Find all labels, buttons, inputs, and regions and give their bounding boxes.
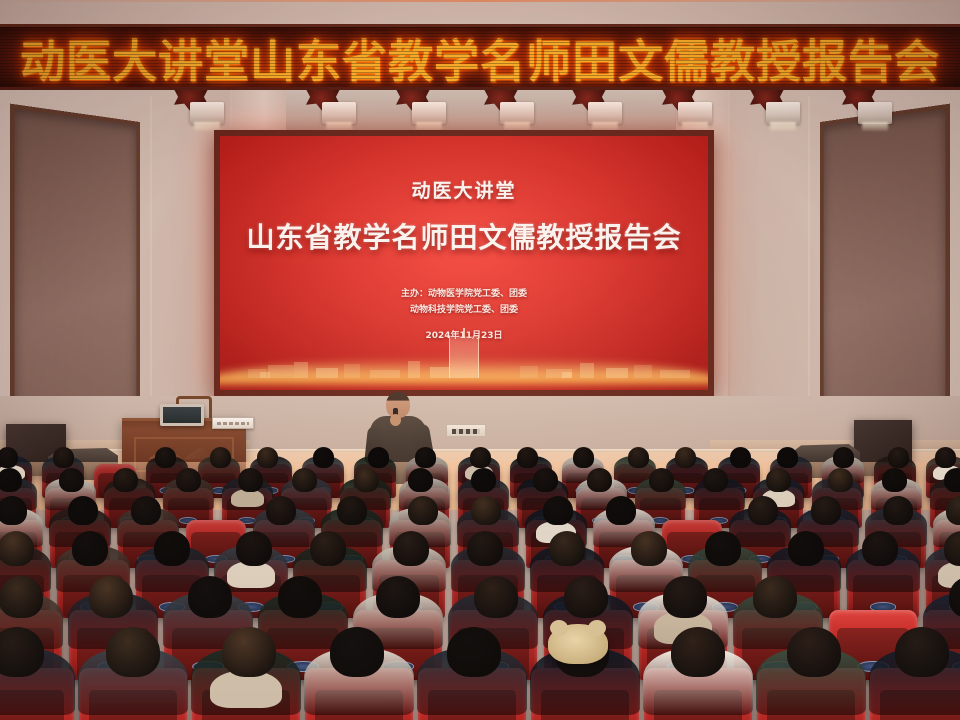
- led-banner-text: 动医大讲堂山东省教学名师田文儒教授报告会: [20, 25, 940, 90]
- audience-member-head: [447, 627, 501, 677]
- audience-member-head: [895, 627, 949, 677]
- spotlight-beam: [770, 122, 796, 131]
- slide-skyline-graphic: [220, 328, 708, 390]
- audience-member-head: [68, 496, 98, 525]
- spotlight-housing: [588, 102, 622, 124]
- led-banner-glow: [0, 0, 960, 2]
- auditorium-photo: 动医大讲堂山东省教学名师田文儒教授报告会 动医大讲堂 山东省教学名师田文儒教授报…: [0, 0, 960, 720]
- skyline-building: [316, 368, 338, 378]
- spotlight-housing: [678, 102, 712, 124]
- audience-member-head: [833, 447, 854, 467]
- skyline-building: [260, 372, 270, 378]
- audience-member-head: [0, 468, 22, 492]
- audience-member-head: [0, 531, 34, 566]
- audience-member-head: [278, 576, 322, 618]
- skyline-building: [660, 370, 690, 378]
- led-marquee-banner: 动医大讲堂山东省教学名师田文儒教授报告会: [0, 24, 960, 90]
- slide-organizer-line-1: 主办：动物医学院党工委、团委: [220, 288, 708, 302]
- audience-member-head: [766, 468, 791, 492]
- skyline-building: [268, 365, 294, 378]
- stage-spotlight-7: [744, 86, 800, 132]
- title-slide: 动医大讲堂 山东省教学名师田文儒教授报告会 主办：动物医学院党工委、团委 动物科…: [220, 136, 708, 390]
- skyline-building: [520, 366, 538, 378]
- audience-member-head: [89, 576, 133, 618]
- audience-member-head: [210, 447, 231, 467]
- skyline-building: [294, 362, 308, 378]
- audience-member-head: [883, 496, 913, 525]
- audience-member-head: [313, 447, 334, 467]
- plush-toy-ear-left: [550, 620, 568, 636]
- audience-member-head: [354, 468, 379, 492]
- audience-seating: [0, 462, 960, 720]
- skyline-building: [430, 367, 450, 378]
- slide-kicker-text: 动医大讲堂: [220, 176, 708, 203]
- nameplate-text-line: [217, 422, 249, 425]
- skyline-building: [580, 363, 594, 378]
- audience-member-head: [467, 531, 503, 566]
- audience-member-head: [266, 496, 296, 525]
- slide-title-text: 山东省教学名师田文儒教授报告会: [220, 216, 708, 256]
- spotlight-housing: [858, 102, 892, 124]
- audience-member-head: [236, 531, 272, 566]
- plush-toy-ear-right: [588, 620, 606, 636]
- audience-member-head: [72, 531, 108, 566]
- skyline-tower: [449, 336, 479, 378]
- audience-member-head: [888, 447, 909, 467]
- audience-member-head: [408, 468, 433, 492]
- slide-organizer-line-2: 动物科技学院党工委、团委: [220, 304, 708, 318]
- audience-member-head: [882, 468, 907, 492]
- stage-spotlight-3: [390, 86, 446, 132]
- audience-member-head: [549, 531, 585, 566]
- audience-member-head: [0, 447, 18, 467]
- audience-member-head: [0, 576, 43, 618]
- audience-member-head: [628, 447, 649, 467]
- skyline-building: [344, 364, 360, 378]
- stage-spotlight-5: [566, 86, 622, 132]
- skyline-building: [634, 365, 652, 378]
- podium-nameplate: [212, 417, 254, 429]
- audience-member-head: [471, 468, 496, 492]
- audience-member-head: [257, 447, 278, 467]
- audience-member-head: [155, 447, 176, 467]
- wall-control-plate: [446, 424, 486, 437]
- spotlight-housing: [412, 102, 446, 124]
- audience-member-head: [517, 447, 538, 467]
- audience-member-head: [703, 468, 728, 492]
- audience-member-head: [106, 627, 160, 677]
- audience-member-head: [154, 531, 190, 566]
- spotlight-housing: [190, 102, 224, 124]
- audience-member-head: [0, 496, 27, 525]
- audience-member-head: [131, 496, 161, 525]
- skyline-spire: [463, 328, 465, 338]
- audience-member-head: [53, 447, 74, 467]
- audience-member-head: [415, 447, 436, 467]
- audience-member-head: [862, 531, 898, 566]
- audience-member-head: [337, 496, 367, 525]
- audience-member-head: [376, 576, 420, 618]
- audience-member-head: [788, 531, 824, 566]
- audience-member-head: [408, 496, 438, 525]
- audience-member-head: [587, 468, 612, 492]
- audience-member-head: [59, 468, 84, 492]
- audience-member-head: [675, 447, 696, 467]
- stage-spotlight-2: [300, 86, 356, 132]
- audience-member-head: [238, 468, 263, 492]
- audience-member-head: [113, 468, 138, 492]
- wall-plate-slot: [452, 429, 480, 434]
- presentation-screen: 动医大讲堂 山东省教学名师田文儒教授报告会 主办：动物医学院党工委、团委 动物科…: [214, 130, 714, 396]
- audience-member-head: [533, 468, 558, 492]
- audience-member-head: [543, 496, 573, 525]
- audience-member-head: [292, 468, 317, 492]
- spotlight-beam: [862, 122, 888, 131]
- audience-member-head: [188, 576, 232, 618]
- audience-member-head: [470, 447, 491, 467]
- stage-spotlight-4: [478, 86, 534, 132]
- audience-member-head: [649, 468, 674, 492]
- audience-member-head: [935, 447, 956, 467]
- audience-member-head: [330, 627, 384, 677]
- presenter-hand: [390, 414, 401, 426]
- audience-member-head: [671, 627, 725, 677]
- audience-member-head: [474, 576, 518, 618]
- audience-member-head: [573, 447, 594, 467]
- stage-spotlight-1: [168, 86, 224, 132]
- audience-member-head: [944, 468, 960, 492]
- audience-member-head: [471, 496, 501, 525]
- audience-member-head: [787, 627, 841, 677]
- skyline-building: [562, 372, 572, 378]
- audience-member-head: [176, 468, 201, 492]
- skyline-building: [606, 368, 628, 378]
- audience-member-head: [310, 531, 346, 566]
- skyline-building: [408, 361, 420, 378]
- audience-member-head: [811, 496, 841, 525]
- spotlight-housing: [766, 102, 800, 124]
- skyline-building: [370, 370, 400, 378]
- audience-member-head: [222, 627, 276, 677]
- audience-member-head: [663, 576, 707, 618]
- stage-spotlight-6: [656, 86, 712, 132]
- audience-member-head: [730, 447, 751, 467]
- podium-monitor: [160, 404, 204, 426]
- stage-spotlight-8: [836, 86, 892, 132]
- audience-member-head: [631, 531, 667, 566]
- audience-member-head: [705, 531, 741, 566]
- spotlight-housing: [322, 102, 356, 124]
- spotlight-housing: [500, 102, 534, 124]
- audience-member-head: [828, 468, 853, 492]
- audience-member-head: [368, 447, 389, 467]
- audience-member-head: [777, 447, 798, 467]
- audience-member-head: [393, 531, 429, 566]
- audience-member-head: [606, 496, 636, 525]
- audience-member-head: [748, 496, 778, 525]
- audience-member-head: [753, 576, 797, 618]
- audience-member-head: [564, 576, 608, 618]
